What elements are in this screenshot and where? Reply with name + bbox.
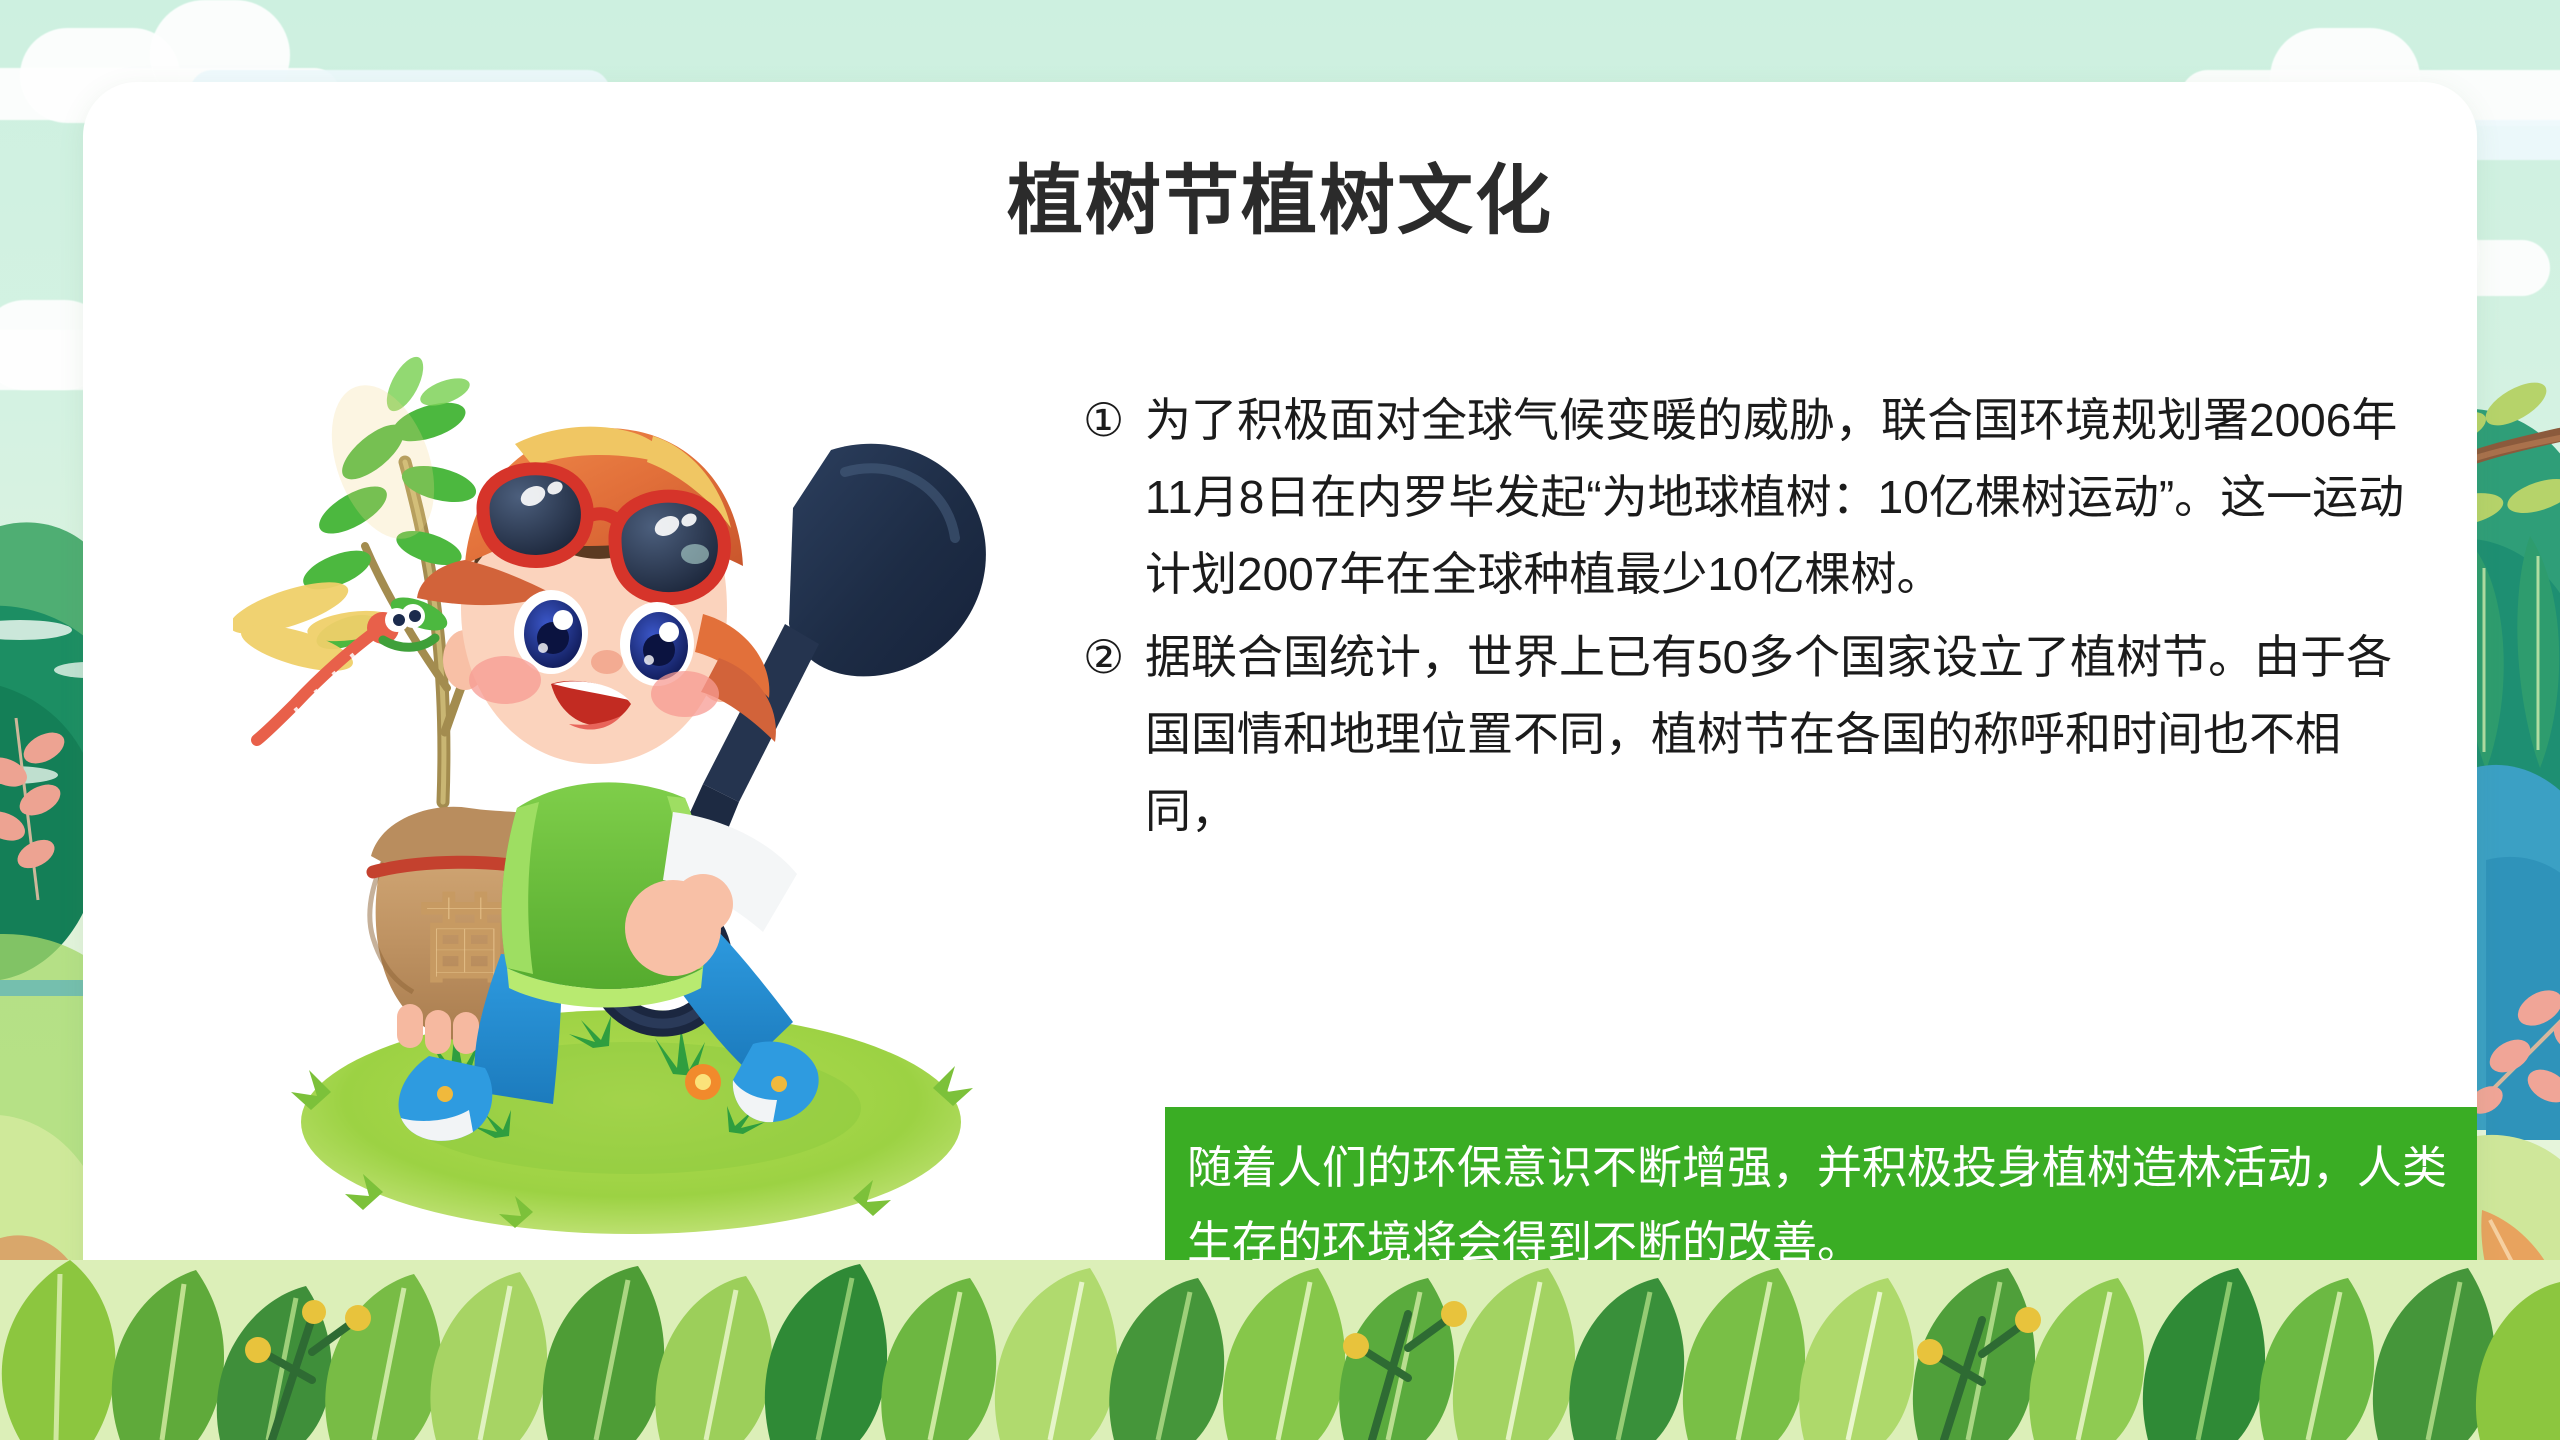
boy-planting-illustration: 苗 xyxy=(233,332,1023,1252)
body-text-column: ① 为了积极面对全球气候变暖的威胁，联合国环境规划署2006年11月8日在内罗毕… xyxy=(1083,382,2413,856)
paragraph-2: ② 据联合国统计，世界上已有50多个国家设立了植树节。由于各国国情和地理位置不同… xyxy=(1083,619,2413,850)
content-card: 植树节植树文化 xyxy=(83,82,2477,1362)
bottom-leaf-band-svg xyxy=(0,1260,2560,1440)
highlight-text: 随着人们的环保意识不断增强，并积极投身植树造林活动，人类生存的环境将会得到不断的… xyxy=(1165,1130,2477,1280)
dragonfly-icon xyxy=(233,572,435,740)
slide-root: 植树节植树文化 xyxy=(0,0,2560,1440)
paragraph-2-text: 据联合国统计，世界上已有50多个国家设立了植树节。由于各国国情和地理位置不同，植… xyxy=(1145,619,2413,850)
paragraph-1-marker: ① xyxy=(1083,382,1145,459)
boy-head xyxy=(417,427,776,764)
paragraph-2-marker: ② xyxy=(1083,619,1145,696)
bottom-leaf-band xyxy=(0,1260,2560,1440)
paragraph-1: ① 为了积极面对全球气候变暖的威胁，联合国环境规划署2006年11月8日在内罗毕… xyxy=(1083,382,2413,613)
paragraph-1-text: 为了积极面对全球气候变暖的威胁，联合国环境规划署2006年11月8日在内罗毕发起… xyxy=(1145,382,2413,613)
page-title: 植树节植树文化 xyxy=(83,160,2477,244)
illustration-svg: 苗 xyxy=(233,332,1023,1252)
